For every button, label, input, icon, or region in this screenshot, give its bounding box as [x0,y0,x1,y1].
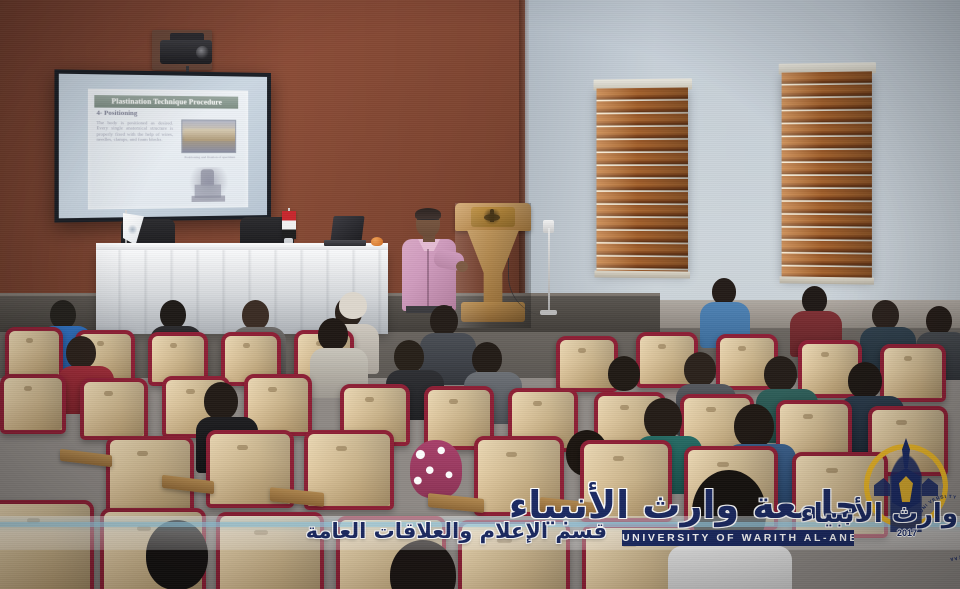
seat-shading [9,331,59,375]
window-right-sill [780,276,874,284]
seat-shading [248,378,308,432]
presenter-hand [456,261,468,272]
projector-lens-icon [196,46,209,59]
microphone-stand [548,228,550,314]
person-head [926,306,952,335]
laptop-screen [330,216,364,242]
person-head [712,278,736,305]
person-head [472,342,502,375]
seat-shading [4,378,62,430]
auditorium-seat[interactable] [0,374,66,434]
laptop-keyboard [324,240,366,246]
person-head [764,356,797,392]
person-head [848,362,882,399]
seat-shading [560,340,614,388]
person-head [802,286,827,314]
slide-photo [181,119,236,153]
person-head [204,382,238,420]
person-head [394,340,424,373]
projection-screen: Plastination Technique Procedure 4- Posi… [54,69,271,222]
window-left [596,88,687,274]
university-seal-icon: UNIVERSITY OF WARITH AL-ANBIYAA وارث الأ… [858,442,954,552]
auditorium-seat[interactable] [880,344,946,402]
auditorium-seat[interactable] [5,327,63,379]
person-head [66,336,96,369]
person-head [644,398,682,440]
seal-year: 2017 [888,528,926,538]
person-head [318,318,348,351]
seat-shading [84,382,144,436]
auditorium-seat[interactable] [556,336,618,392]
person-head [608,356,640,391]
person-head [430,305,458,336]
person-head [684,352,716,387]
pennant-flag-logo-icon [128,224,137,235]
iraq-flag [282,211,296,239]
person-head [242,300,269,330]
presenter-shirt-placket [427,249,429,307]
slide-photo-caption: Positioning and fixation of specimen [184,155,235,159]
writing-tablet[interactable] [60,449,112,467]
window-right-blind-shading [782,71,872,279]
seal-arabic-text: وارث الأنبياء [854,500,958,528]
seat-shading [884,348,942,398]
person-head [50,300,76,329]
diagram-part-top [201,169,214,185]
person-head [872,300,899,330]
slide-photo-detail [184,129,235,141]
presentation-slide: Plastination Technique Procedure 4- Posi… [88,89,248,210]
seat-shading [110,440,190,510]
person-head-hijab [410,440,462,498]
window-left-blind-shading [596,88,687,274]
slide-body-text: The body is positioned as desired. Every… [96,120,173,143]
slide-diagram [188,167,229,204]
lecture-hall-photo: Plastination Technique Procedure 4- Posi… [0,0,960,589]
person-head [734,404,774,448]
window-right [782,71,872,279]
window-left-sill [595,270,690,278]
right-wall-shading [525,0,960,340]
university-name-english: UNIVERSITY OF WARITH AL-ANBIYAA [622,530,854,546]
orange-object-on-table [371,237,383,246]
diagram-part-base [192,196,226,202]
auditorium-seat[interactable] [80,378,148,440]
presenter-glasses-icon [417,219,439,223]
slide-title: Plastination Technique Procedure [94,95,238,109]
screen-surface: Plastination Technique Procedure 4- Posi… [59,74,267,219]
microphone-base [540,310,557,315]
slide-subtitle: 4- Positioning [96,110,137,118]
auditorium-seat[interactable] [106,436,194,514]
person-head [160,300,186,329]
person-head [339,292,367,319]
